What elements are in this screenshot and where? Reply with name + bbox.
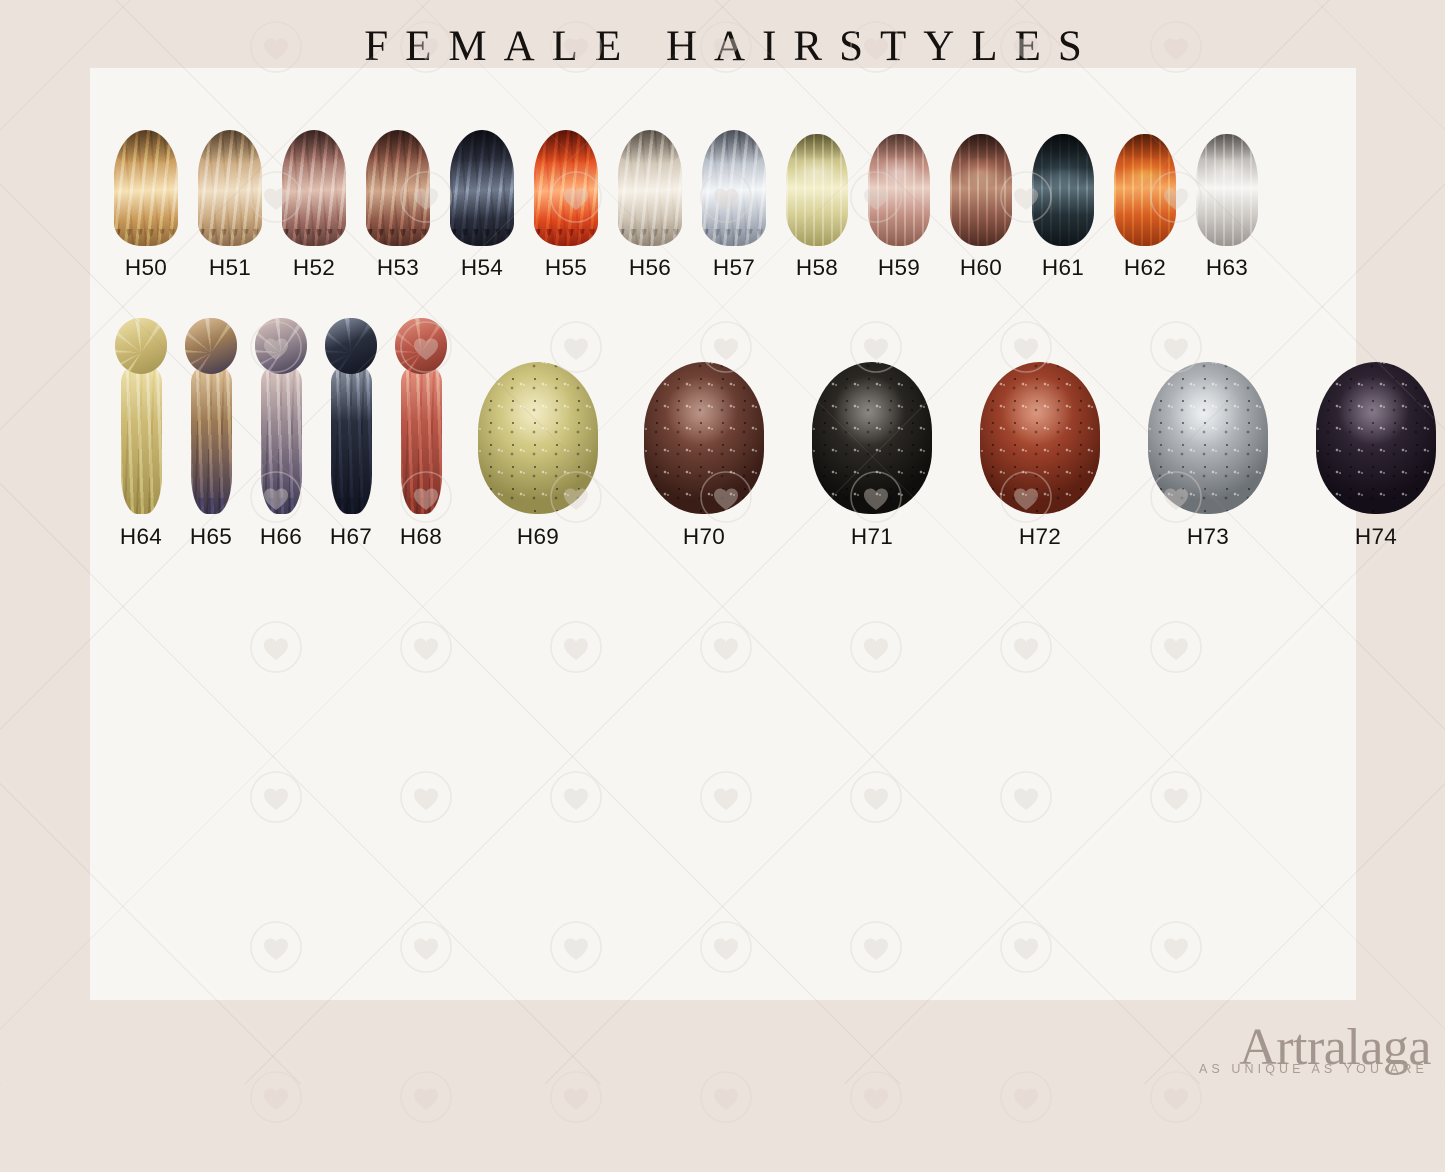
- hairstyle-art-h66: [252, 318, 310, 514]
- heart-in-circle-icon: [501, 1022, 651, 1172]
- hairstyle-art-h65: [182, 318, 240, 514]
- hairstyle-label: H56: [629, 257, 671, 280]
- hairstyle-swatch-h60[interactable]: H60: [950, 134, 1012, 280]
- hairstyle-swatch-h50[interactable]: H50: [114, 130, 178, 280]
- hairstyle-art-h51: [198, 130, 262, 246]
- hairstyle-swatch-h69[interactable]: H69: [478, 362, 598, 549]
- hairstyle-art-h62: [1114, 134, 1176, 246]
- hairstyle-swatch-h74[interactable]: H74: [1316, 362, 1436, 549]
- hairstyle-label: H74: [1355, 526, 1397, 549]
- hairstyle-swatch-h53[interactable]: H53: [366, 130, 430, 280]
- hairstyle-label: H65: [190, 526, 232, 549]
- page-title: FEMALE HAIRSTYLES: [90, 22, 1356, 71]
- hairstyle-label: H51: [209, 257, 251, 280]
- hairstyle-swatch-h67[interactable]: H67: [322, 318, 380, 549]
- hairstyle-art-h73: [1148, 362, 1268, 514]
- hairstyle-row-2: H64H65H66H67H68H69H70H71H72H73H74: [112, 318, 1436, 549]
- hairstyle-label: H52: [293, 257, 335, 280]
- hairstyle-swatch-h68[interactable]: H68: [392, 318, 450, 549]
- hairstyle-label: H54: [461, 257, 503, 280]
- hairstyle-label: H59: [878, 257, 920, 280]
- hairstyle-art-h57: [702, 130, 766, 246]
- hairstyle-label: H61: [1042, 257, 1084, 280]
- hairstyle-label: H55: [545, 257, 587, 280]
- hairstyle-art-h52: [282, 130, 346, 246]
- brand-tagline: AS UNIQUE AS YOU ARE: [1199, 1062, 1428, 1076]
- hairstyle-label: H57: [713, 257, 755, 280]
- hairstyle-swatch-h71[interactable]: H71: [812, 362, 932, 549]
- hairstyle-swatch-h65[interactable]: H65: [182, 318, 240, 549]
- hairstyle-label: H62: [1124, 257, 1166, 280]
- hairstyle-swatch-h59[interactable]: H59: [868, 134, 930, 280]
- hairstyle-label: H58: [796, 257, 838, 280]
- hairstyle-swatch-h61[interactable]: H61: [1032, 134, 1094, 280]
- hairstyle-art-h54: [450, 130, 514, 246]
- brand-logo: Artralaga AS UNIQUE AS YOU ARE: [1199, 1024, 1431, 1076]
- hairstyle-swatch-h62[interactable]: H62: [1114, 134, 1176, 280]
- hairstyle-art-h64: [112, 318, 170, 514]
- hairstyle-swatch-h52[interactable]: H52: [282, 130, 346, 280]
- hairstyle-label: H64: [120, 526, 162, 549]
- hairstyle-swatch-h63[interactable]: H63: [1196, 134, 1258, 280]
- hairstyle-label: H70: [683, 526, 725, 549]
- hairstyle-art-h74: [1316, 362, 1436, 514]
- hairstyle-swatch-h64[interactable]: H64: [112, 318, 170, 549]
- hairstyle-art-h59: [868, 134, 930, 246]
- heart-in-circle-icon: [651, 1022, 801, 1172]
- hairstyle-art-h70: [644, 362, 764, 514]
- hairstyle-art-h50: [114, 130, 178, 246]
- heart-in-circle-icon: [351, 1022, 501, 1172]
- hairstyle-art-h69: [478, 362, 598, 514]
- chart-card: FEMALE HAIRSTYLES H50H51H52H53H54H55H56H…: [90, 68, 1356, 1000]
- heart-in-circle-icon: [951, 1022, 1101, 1172]
- hairstyle-art-h67: [322, 318, 380, 514]
- hairstyle-row-1: H50H51H52H53H54H55H56H57H58H59H60H61H62H…: [114, 130, 1258, 280]
- hairstyle-swatch-h54[interactable]: H54: [450, 130, 514, 280]
- hairstyle-art-h63: [1196, 134, 1258, 246]
- hairstyle-label: H68: [400, 526, 442, 549]
- hairstyle-label: H63: [1206, 257, 1248, 280]
- hairstyle-label: H66: [260, 526, 302, 549]
- hairstyle-swatch-h58[interactable]: H58: [786, 134, 848, 280]
- hairstyle-swatch-h66[interactable]: H66: [252, 318, 310, 549]
- hairstyle-art-h55: [534, 130, 598, 246]
- hairstyle-swatch-h72[interactable]: H72: [980, 362, 1100, 549]
- hairstyle-swatch-h56[interactable]: H56: [618, 130, 682, 280]
- hairstyle-label: H72: [1019, 526, 1061, 549]
- heart-in-circle-icon: [801, 1022, 951, 1172]
- hairstyle-swatch-h70[interactable]: H70: [644, 362, 764, 549]
- hairstyle-swatch-h55[interactable]: H55: [534, 130, 598, 280]
- hairstyle-art-h56: [618, 130, 682, 246]
- hairstyle-art-h61: [1032, 134, 1094, 246]
- hairstyle-swatch-h73[interactable]: H73: [1148, 362, 1268, 549]
- hairstyle-art-h68: [392, 318, 450, 514]
- hairstyle-label: H71: [851, 526, 893, 549]
- heart-in-circle-icon: [201, 1022, 351, 1172]
- hairstyle-art-h71: [812, 362, 932, 514]
- hairstyle-label: H69: [517, 526, 559, 549]
- hairstyle-art-h53: [366, 130, 430, 246]
- hairstyle-art-h58: [786, 134, 848, 246]
- hairstyle-swatch-h51[interactable]: H51: [198, 130, 262, 280]
- hairstyle-art-h72: [980, 362, 1100, 514]
- hairstyle-swatch-h57[interactable]: H57: [702, 130, 766, 280]
- hairstyle-label: H67: [330, 526, 372, 549]
- hairstyle-label: H50: [125, 257, 167, 280]
- hairstyle-label: H73: [1187, 526, 1229, 549]
- hairstyle-art-h60: [950, 134, 1012, 246]
- hairstyle-label: H53: [377, 257, 419, 280]
- hairstyle-label: H60: [960, 257, 1002, 280]
